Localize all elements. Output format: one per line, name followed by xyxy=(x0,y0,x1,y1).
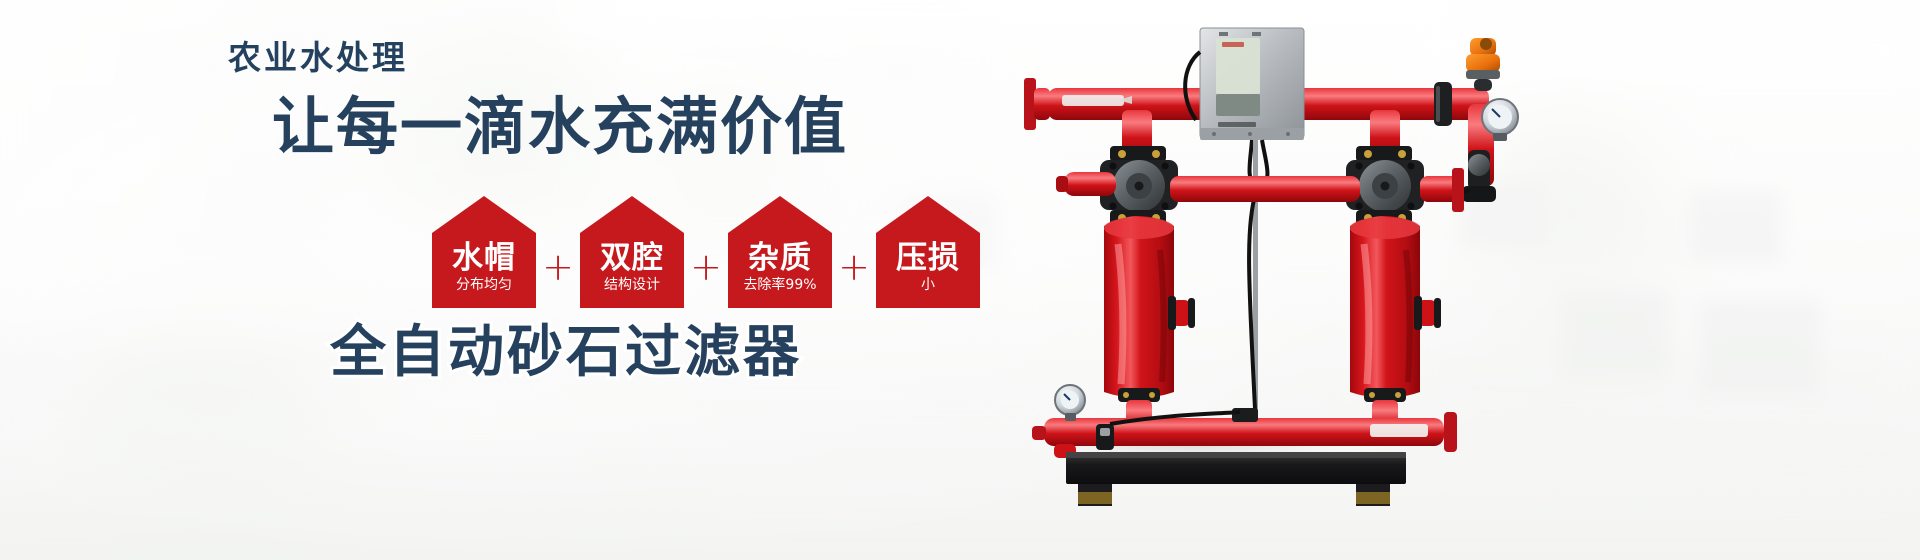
feature-badge-water-cap[interactable]: 水帽 分布均匀 xyxy=(432,196,536,308)
product-bottom-manifold xyxy=(1032,385,1457,458)
feature-badge-pressure-loss[interactable]: 压损 小 xyxy=(876,196,980,308)
product-controller-box xyxy=(1185,28,1304,440)
banner-kicker: 农业水处理 xyxy=(228,41,408,74)
feature-badge-dual-chamber[interactable]: 双腔 结构设计 xyxy=(580,196,684,308)
badge-subtitle: 去除率99% xyxy=(743,276,816,295)
badge-subtitle: 分布均匀 xyxy=(456,276,512,295)
badge-title: 杂质 xyxy=(748,242,812,274)
feature-badge-row: 水帽 分布均匀 + 双腔 结构设计 + 杂质 去除率99% + 压损 小 xyxy=(432,196,980,308)
feature-badge-impurity[interactable]: 杂质 去除率99% xyxy=(728,196,832,308)
plus-separator-icon-2: + xyxy=(684,248,728,286)
product-tank-left xyxy=(1104,216,1195,398)
product-air-release-valve xyxy=(1466,38,1500,91)
hero-banner: 农业水处理 让每一滴水充满价值 水帽 分布均匀 + 双腔 结构设计 + 杂质 去… xyxy=(0,0,1920,560)
badge-subtitle: 小 xyxy=(921,276,935,295)
plus-separator-icon-1: + xyxy=(536,248,580,286)
badge-title: 双腔 xyxy=(600,242,664,274)
banner-subline: 全自动砂石过滤器 xyxy=(330,325,802,381)
banner-headline: 让每一滴水充满价值 xyxy=(272,96,848,158)
plus-separator-icon-3: + xyxy=(832,248,876,286)
badge-title: 压损 xyxy=(896,242,960,274)
product-base-frame xyxy=(1066,452,1406,506)
badge-subtitle: 结构设计 xyxy=(604,276,660,295)
product-tank-right xyxy=(1350,216,1441,398)
product-sand-filter xyxy=(1000,0,1560,560)
badge-title: 水帽 xyxy=(452,242,516,274)
